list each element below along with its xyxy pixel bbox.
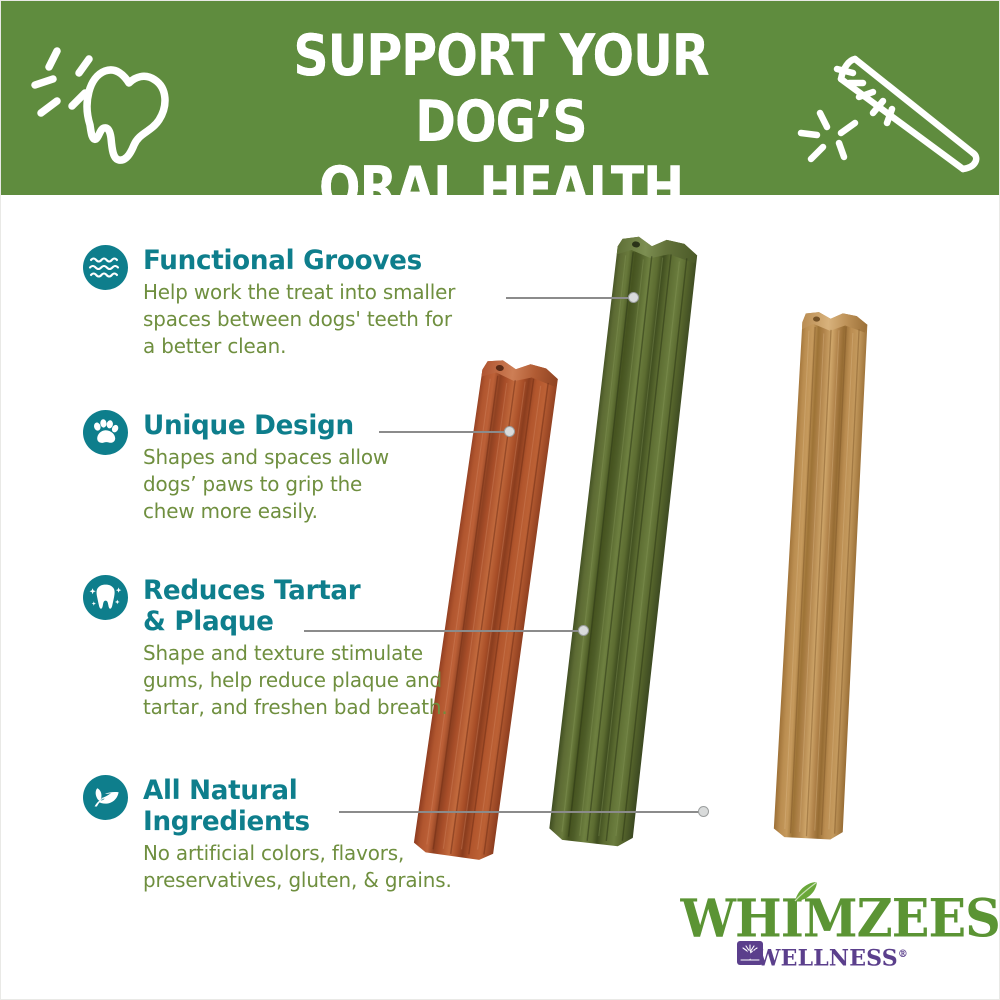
feature-all-natural-ingredients: All Natural Ingredients No artificial co… xyxy=(83,775,503,894)
feature-title: Functional Grooves xyxy=(143,245,492,276)
whimzees-oral-health-infographic: SUPPORT YOUR DOG’S ORAL HEALTH xyxy=(0,0,1000,1000)
tan-chew-stick xyxy=(770,309,872,842)
leaf-accent-icon xyxy=(792,881,818,903)
feature-functional-grooves: Functional Grooves Help work the treat i… xyxy=(83,245,503,360)
feature-title: Reduces Tartar & Plaque xyxy=(143,575,492,637)
logo-sub-registered-mark: ® xyxy=(898,949,908,960)
waves-circle-icon xyxy=(83,245,128,290)
feature-description: Shape and texture stimulate gums, help r… xyxy=(143,640,492,721)
tooth-sparkle-icon xyxy=(27,33,177,168)
feature-title: Unique Design xyxy=(143,410,492,441)
logo-by-text: by xyxy=(738,946,754,960)
logo-wordmark: WHIMZEES® xyxy=(681,885,966,947)
leader-line-1 xyxy=(506,297,634,299)
leader-dot-3 xyxy=(578,625,589,636)
feature-reduces-tartar-plaque: Reduces Tartar & Plaque Shape and textur… xyxy=(83,575,503,721)
toothbrush-sparkle-icon xyxy=(797,35,992,175)
sparkling-tooth-circle-icon xyxy=(83,575,128,620)
feature-description: Shapes and spaces allow dogs’ paws to gr… xyxy=(143,444,492,525)
paw-print-circle-icon xyxy=(83,410,128,455)
page-title: SUPPORT YOUR DOG’S ORAL HEALTH xyxy=(200,23,802,195)
logo-sub-wordmark: byWELLNESS® xyxy=(673,941,973,970)
feature-unique-design: Unique Design Shapes and spaces allow do… xyxy=(83,410,503,525)
leader-dot-1 xyxy=(628,292,639,303)
feature-title: All Natural Ingredients xyxy=(143,775,492,837)
feature-description: Help work the treat into smaller spaces … xyxy=(143,279,492,360)
whimzees-wellness-logo: WHIMZEES® byWELLNESS® xyxy=(673,885,973,971)
logo-sub-text: WELLNESS xyxy=(756,945,898,971)
leader-dot-4 xyxy=(698,806,709,817)
leader-dot-2 xyxy=(504,426,515,437)
leaf-circle-icon xyxy=(83,775,128,820)
feature-description: No artificial colors, flavors, preservat… xyxy=(143,840,492,894)
header-banner: SUPPORT YOUR DOG’S ORAL HEALTH xyxy=(1,1,1000,195)
